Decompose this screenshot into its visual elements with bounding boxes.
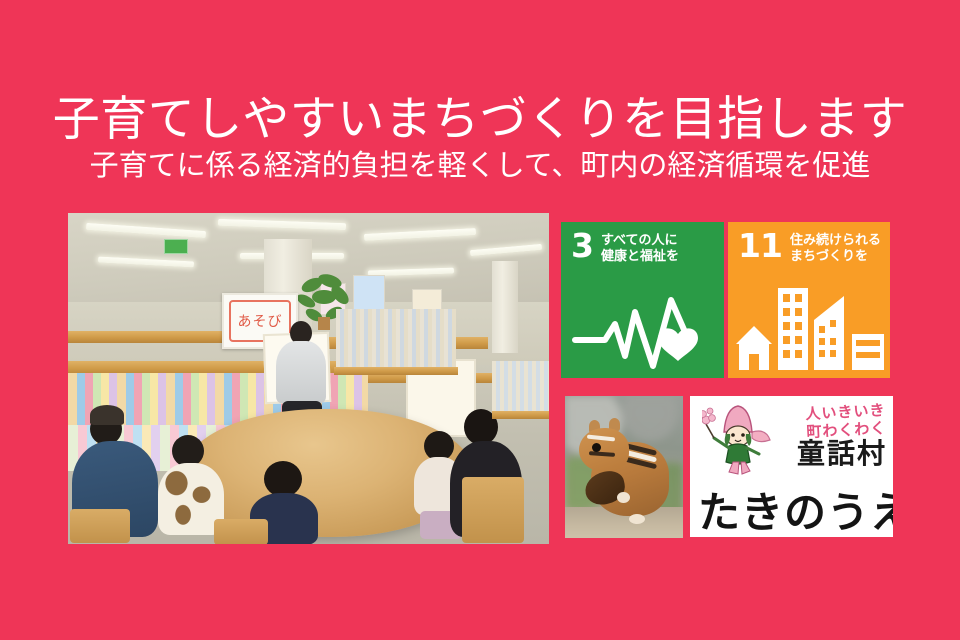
city-buildings-icon: [728, 282, 890, 374]
exit-sign-icon: [164, 239, 188, 254]
fairy-mascot-icon: [702, 402, 776, 476]
chair: [214, 519, 268, 544]
town-logo-name: たきのうえ: [698, 491, 893, 535]
sdg-badge-11-header: 11 住み続けられる まちづくりを: [728, 222, 890, 266]
sdg-badge-11-line1: 住み続けられる: [790, 233, 881, 249]
sdg-badge-11-text: 住み続けられる まちづくりを: [790, 231, 881, 266]
headline-block: 子育てしやすいまちづくりを目指します 子育てに係る経済的負担を軽くして、町内の経…: [0, 96, 960, 180]
sdg-badge-3-text: すべての人に 健康と福祉を: [601, 231, 679, 266]
sdg-badge-11-number: 11: [738, 231, 782, 261]
chipmunk-paw: [617, 492, 630, 503]
sdg-badge-3: 3 すべての人に 健康と福祉を: [561, 222, 724, 378]
standing-adult: [276, 341, 326, 403]
sdg-badge-3-line1: すべての人に: [601, 233, 679, 249]
chair: [70, 509, 130, 543]
chipmunk-eye: [592, 443, 601, 452]
page-subtitle: 子育てに係る経済的負担を軽くして、町内の経済循環を促進: [0, 150, 960, 180]
bookshelf: [334, 367, 458, 375]
chair: [462, 477, 524, 543]
slide-canvas: 子育てしやすいまちづくりを目指します 子育てに係る経済的負担を軽くして、町内の経…: [0, 0, 960, 640]
heartbeat-pulse-icon: [561, 282, 724, 374]
town-logo: 人いきいき 町わくわく 童話村 たきのうえ: [690, 396, 893, 537]
chipmunk-paw: [629, 514, 645, 524]
adult-knit-cap-icon: [90, 405, 124, 425]
bookshelf: [492, 361, 549, 413]
sdg-badge-3-header: 3 すべての人に 健康と福祉を: [561, 222, 724, 266]
library-photo: あそび: [68, 213, 549, 544]
sdg-badge-3-number: 3: [571, 231, 593, 261]
town-logo-catchphrase: 人いきいき 町わくわく: [805, 402, 887, 442]
sdg-badge-3-line2: 健康と福祉を: [601, 249, 679, 265]
child-head: [264, 461, 302, 497]
town-logo-village: 童話村: [797, 440, 887, 468]
bookshelf: [492, 411, 549, 419]
page-title: 子育てしやすいまちづくりを目指します: [0, 96, 960, 144]
bookshelf: [336, 309, 456, 369]
sdg-badge-11: 11 住み続けられる まちづくりを: [728, 222, 890, 378]
sdg-badge-11-line2: まちづくりを: [790, 249, 881, 265]
chipmunk-photo: [565, 396, 683, 538]
library-pillar: [492, 261, 518, 353]
